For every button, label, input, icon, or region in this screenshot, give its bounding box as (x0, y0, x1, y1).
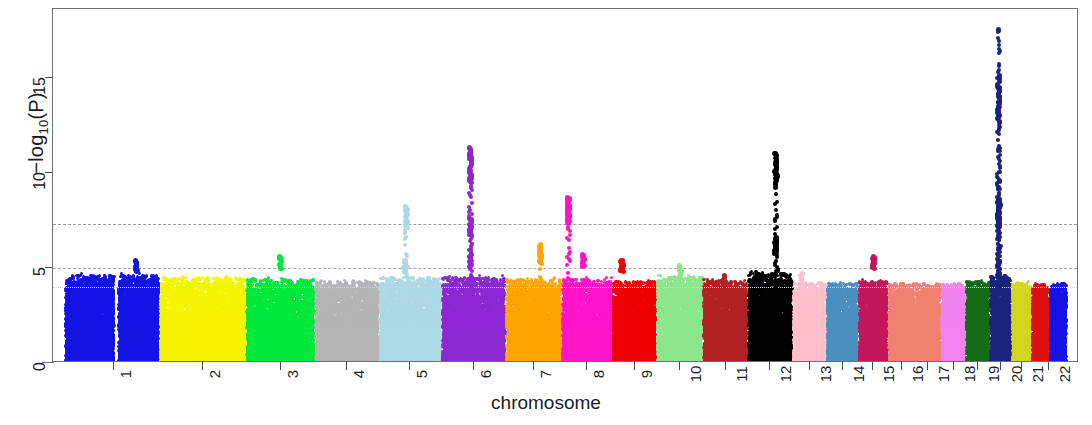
data-point (421, 294, 424, 297)
data-point (590, 312, 593, 315)
data-point (170, 320, 173, 323)
data-point (1057, 320, 1060, 323)
data-point (642, 313, 645, 316)
data-point (1023, 315, 1026, 318)
data-point (363, 304, 366, 307)
data-point (932, 309, 935, 312)
x-axis-tick-label: 1 (117, 370, 134, 378)
data-point (766, 308, 769, 311)
data-point (123, 291, 126, 294)
data-point (965, 303, 968, 306)
data-point (773, 242, 777, 246)
data-point (681, 294, 684, 297)
data-point (100, 288, 103, 291)
data-point (378, 287, 381, 290)
data-point (402, 269, 407, 274)
data-point (343, 309, 346, 312)
x-axis-tick-label: 8 (590, 370, 607, 378)
data-point (399, 294, 402, 297)
data-point (669, 281, 672, 284)
data-point (646, 296, 649, 299)
data-point (773, 286, 777, 290)
data-point (175, 310, 178, 313)
data-point (1034, 282, 1037, 285)
data-point (488, 302, 491, 305)
data-point (471, 301, 474, 304)
data-point (468, 307, 471, 310)
data-point (78, 324, 81, 327)
data-point (1001, 324, 1004, 327)
data-point (525, 312, 528, 315)
data-point (1040, 327, 1043, 330)
data-point (1027, 318, 1030, 321)
data-point (412, 313, 415, 316)
data-point (355, 327, 358, 330)
data-point (894, 298, 897, 301)
data-point (445, 322, 448, 325)
data-point (580, 319, 583, 322)
data-point (574, 300, 577, 303)
data-point (756, 287, 759, 290)
data-point (930, 318, 933, 321)
data-point (1049, 325, 1052, 328)
data-point (87, 314, 90, 317)
data-point (118, 324, 121, 327)
data-point (510, 283, 513, 286)
data-point (844, 314, 847, 317)
data-point (860, 295, 863, 298)
data-point (483, 323, 486, 326)
data-point (549, 301, 552, 304)
threshold-line-suggestive (53, 268, 1077, 269)
data-point (747, 274, 750, 277)
data-point (169, 294, 172, 297)
data-point (617, 316, 620, 319)
data-point (976, 316, 979, 319)
data-point (717, 295, 720, 298)
data-point (765, 324, 768, 327)
data-point (636, 292, 639, 295)
data-point (498, 312, 501, 315)
data-point (895, 319, 898, 322)
data-point (143, 299, 146, 302)
data-point (590, 298, 593, 301)
data-point (756, 293, 759, 296)
data-point (206, 324, 209, 327)
data-point (738, 320, 741, 323)
data-point (983, 295, 986, 298)
data-point (1052, 311, 1055, 314)
data-point (696, 297, 699, 300)
data-point (230, 304, 233, 307)
data-point (826, 325, 829, 328)
data-point (688, 321, 691, 324)
data-point (566, 225, 570, 229)
data-point (123, 275, 126, 278)
data-point (470, 201, 474, 205)
data-point (403, 309, 406, 312)
data-point (997, 68, 1001, 72)
data-point (255, 325, 258, 328)
data-point (803, 292, 806, 295)
data-point (1056, 294, 1059, 297)
data-point (485, 277, 488, 280)
data-point (942, 288, 945, 291)
data-point (650, 325, 653, 328)
x-axis-tick-label: 17 (936, 366, 953, 383)
data-point (784, 305, 787, 308)
data-point (460, 296, 463, 299)
data-point (813, 311, 816, 314)
data-point (955, 300, 958, 303)
data-point (398, 325, 401, 328)
data-point (631, 326, 634, 329)
data-point (254, 279, 257, 282)
data-point (275, 299, 278, 302)
data-point (566, 310, 569, 313)
x-axis-tick (1048, 362, 1049, 370)
data-point (797, 316, 800, 319)
x-axis-tick (280, 362, 281, 370)
data-point (729, 321, 732, 324)
data-point (581, 307, 584, 310)
data-point (266, 294, 269, 297)
data-point (256, 301, 259, 304)
data-point (633, 298, 636, 301)
data-point (659, 294, 662, 297)
data-point (605, 313, 608, 316)
data-point (677, 282, 680, 285)
data-point (239, 324, 242, 327)
data-point (850, 309, 853, 312)
data-point (585, 281, 588, 284)
data-point (1000, 316, 1003, 319)
x-axis-tick (1021, 362, 1022, 370)
data-point (233, 288, 236, 291)
data-point (513, 283, 516, 286)
data-point (438, 292, 441, 295)
data-point (364, 325, 367, 328)
data-point (469, 148, 473, 152)
data-point (538, 247, 542, 251)
data-point (419, 325, 422, 328)
data-point (315, 304, 318, 307)
x-axis-tick-label: 10 (687, 366, 704, 383)
data-point (395, 295, 398, 298)
data-point (295, 283, 298, 286)
data-point (434, 300, 437, 303)
data-point (349, 324, 352, 327)
data-point (1003, 274, 1006, 277)
data-point (755, 308, 758, 311)
data-point (659, 302, 662, 305)
data-point (557, 288, 560, 291)
data-point (730, 319, 733, 322)
x-axis-tick-label: 15 (881, 366, 898, 383)
data-point (449, 300, 452, 303)
data-point (998, 153, 1002, 157)
data-point (567, 320, 570, 323)
data-point (725, 317, 728, 320)
data-point (792, 322, 795, 325)
data-point (997, 43, 1001, 47)
data-point (860, 315, 863, 318)
data-point (92, 277, 95, 280)
data-point (415, 303, 418, 306)
data-point (511, 316, 514, 319)
data-point (949, 301, 952, 304)
data-point (821, 310, 824, 313)
data-point (881, 325, 884, 328)
data-point (182, 294, 185, 297)
data-point (150, 288, 153, 291)
data-point (688, 276, 691, 279)
data-point (980, 317, 983, 320)
data-point (924, 290, 927, 293)
data-point (593, 303, 596, 306)
data-point (997, 162, 1001, 166)
data-point (260, 319, 263, 322)
data-point (311, 312, 314, 315)
data-point (1054, 321, 1057, 324)
data-point (909, 312, 912, 315)
data-point (998, 105, 1002, 109)
data-point (720, 292, 723, 295)
data-point (590, 319, 593, 322)
data-point (995, 309, 998, 312)
data-point (404, 252, 408, 256)
data-point (1049, 297, 1052, 300)
data-point (284, 322, 287, 325)
data-point (372, 297, 375, 300)
data-point (155, 277, 158, 280)
data-point (216, 278, 219, 281)
data-point (851, 316, 854, 319)
data-point (543, 308, 546, 311)
data-point (287, 310, 290, 313)
data-point (330, 295, 333, 298)
x-axis-tick (769, 362, 770, 370)
data-point (1056, 315, 1059, 318)
x-axis-tick (346, 362, 347, 370)
data-point (111, 317, 114, 320)
data-point (1056, 289, 1059, 292)
data-point (850, 304, 853, 307)
data-point (728, 299, 731, 302)
x-axis-tick-label: 14 (850, 366, 867, 383)
data-point (966, 308, 969, 311)
data-point (549, 298, 552, 301)
data-point (723, 301, 726, 304)
data-point (201, 323, 204, 326)
data-point (257, 283, 260, 286)
data-point (566, 282, 570, 286)
data-point (765, 300, 768, 303)
y-axis-tick-label: 10 (31, 172, 49, 190)
data-point (816, 319, 819, 322)
data-point (162, 318, 165, 321)
y-axis-tick-label: 0 (31, 362, 49, 371)
x-axis-tick (533, 362, 534, 370)
data-point (735, 301, 738, 304)
data-point (1020, 309, 1023, 312)
data-point (874, 303, 877, 306)
data-point (170, 302, 173, 305)
data-point (331, 314, 334, 317)
data-point (533, 321, 536, 324)
manhattan-plot-figure: −log10(P) chromosome 051015 123456789101… (0, 0, 1092, 425)
data-point (1042, 317, 1045, 320)
x-axis-tick (409, 362, 410, 370)
data-point (568, 250, 572, 254)
x-axis-tick (473, 362, 474, 370)
data-point (396, 303, 399, 306)
data-point (210, 319, 213, 322)
data-point (271, 306, 274, 309)
data-point (514, 295, 517, 298)
data-point (1040, 310, 1043, 313)
data-point (1054, 325, 1057, 328)
x-axis-tick-label: 12 (778, 366, 795, 383)
data-point (875, 292, 878, 295)
data-point (305, 296, 308, 299)
data-point (331, 307, 334, 310)
data-point (995, 324, 998, 327)
data-point (568, 233, 572, 237)
x-axis-tick (586, 362, 587, 370)
data-point (770, 323, 773, 326)
x-axis-tick (927, 362, 928, 370)
data-point (142, 311, 145, 314)
data-point (92, 324, 95, 327)
data-point (817, 327, 820, 330)
data-point (780, 319, 783, 322)
data-point (901, 300, 904, 303)
data-point (172, 325, 175, 328)
data-point (207, 302, 210, 305)
data-point (432, 325, 435, 328)
data-point (489, 289, 492, 292)
data-point (774, 192, 778, 196)
data-point (610, 276, 613, 279)
data-point (476, 277, 479, 280)
data-point (155, 282, 158, 285)
data-point (891, 315, 894, 318)
data-point (497, 304, 500, 307)
data-point (715, 282, 718, 285)
data-point (169, 315, 172, 318)
data-point (669, 325, 672, 328)
data-point (515, 279, 518, 282)
data-point (946, 295, 949, 298)
data-point (93, 303, 96, 306)
data-point (951, 290, 954, 293)
data-point (933, 303, 936, 306)
data-point (997, 120, 1001, 124)
data-point (484, 319, 487, 322)
x-axis-tick-label: 22 (1057, 366, 1074, 383)
data-point (667, 276, 670, 279)
data-point (872, 320, 875, 323)
data-point (704, 324, 707, 327)
data-point (209, 293, 212, 296)
data-point (630, 301, 633, 304)
data-point (274, 324, 277, 327)
data-point (971, 321, 974, 324)
x-axis-tick (977, 362, 978, 370)
data-point (175, 314, 178, 317)
data-point (1017, 296, 1020, 299)
data-point (280, 315, 283, 318)
data-point (697, 315, 700, 318)
data-point (595, 320, 598, 323)
data-point (526, 306, 529, 309)
data-point (584, 324, 587, 327)
data-point (452, 290, 455, 293)
data-point (682, 298, 685, 301)
data-point (477, 304, 480, 307)
y-axis-tick-label: 5 (31, 267, 49, 276)
data-point (558, 296, 561, 299)
data-point (544, 324, 547, 327)
data-point (858, 326, 861, 329)
data-point (147, 288, 150, 291)
data-point (870, 291, 873, 294)
data-point (315, 281, 318, 284)
data-point (72, 309, 75, 312)
data-point (868, 300, 871, 303)
data-point (487, 324, 490, 327)
data-point (199, 278, 202, 281)
data-point (714, 288, 717, 291)
data-point (1058, 308, 1061, 311)
data-point (99, 322, 102, 325)
data-point (888, 306, 891, 309)
data-point (646, 326, 649, 329)
data-point (621, 269, 626, 274)
data-point (675, 279, 678, 282)
data-point (778, 324, 781, 327)
data-point (148, 278, 151, 281)
data-point (283, 298, 286, 301)
data-point (464, 300, 467, 303)
data-point (467, 264, 472, 269)
data-point (515, 317, 518, 320)
data-point (234, 276, 237, 279)
data-point (686, 282, 689, 285)
data-point (523, 321, 526, 324)
data-point (224, 289, 227, 292)
data-point (556, 300, 559, 303)
data-point (78, 299, 81, 302)
data-point (170, 308, 173, 311)
data-point (231, 322, 234, 325)
data-point (406, 280, 410, 284)
data-point (849, 290, 852, 293)
data-point (463, 276, 466, 279)
data-point (483, 314, 486, 317)
data-point (299, 323, 302, 326)
data-point (830, 311, 833, 314)
data-point (656, 322, 659, 325)
data-point (510, 326, 513, 329)
data-point (774, 208, 778, 212)
data-point (403, 220, 407, 224)
data-point (996, 30, 1000, 34)
data-point (835, 306, 838, 309)
data-point (821, 300, 824, 303)
data-point (185, 314, 188, 317)
